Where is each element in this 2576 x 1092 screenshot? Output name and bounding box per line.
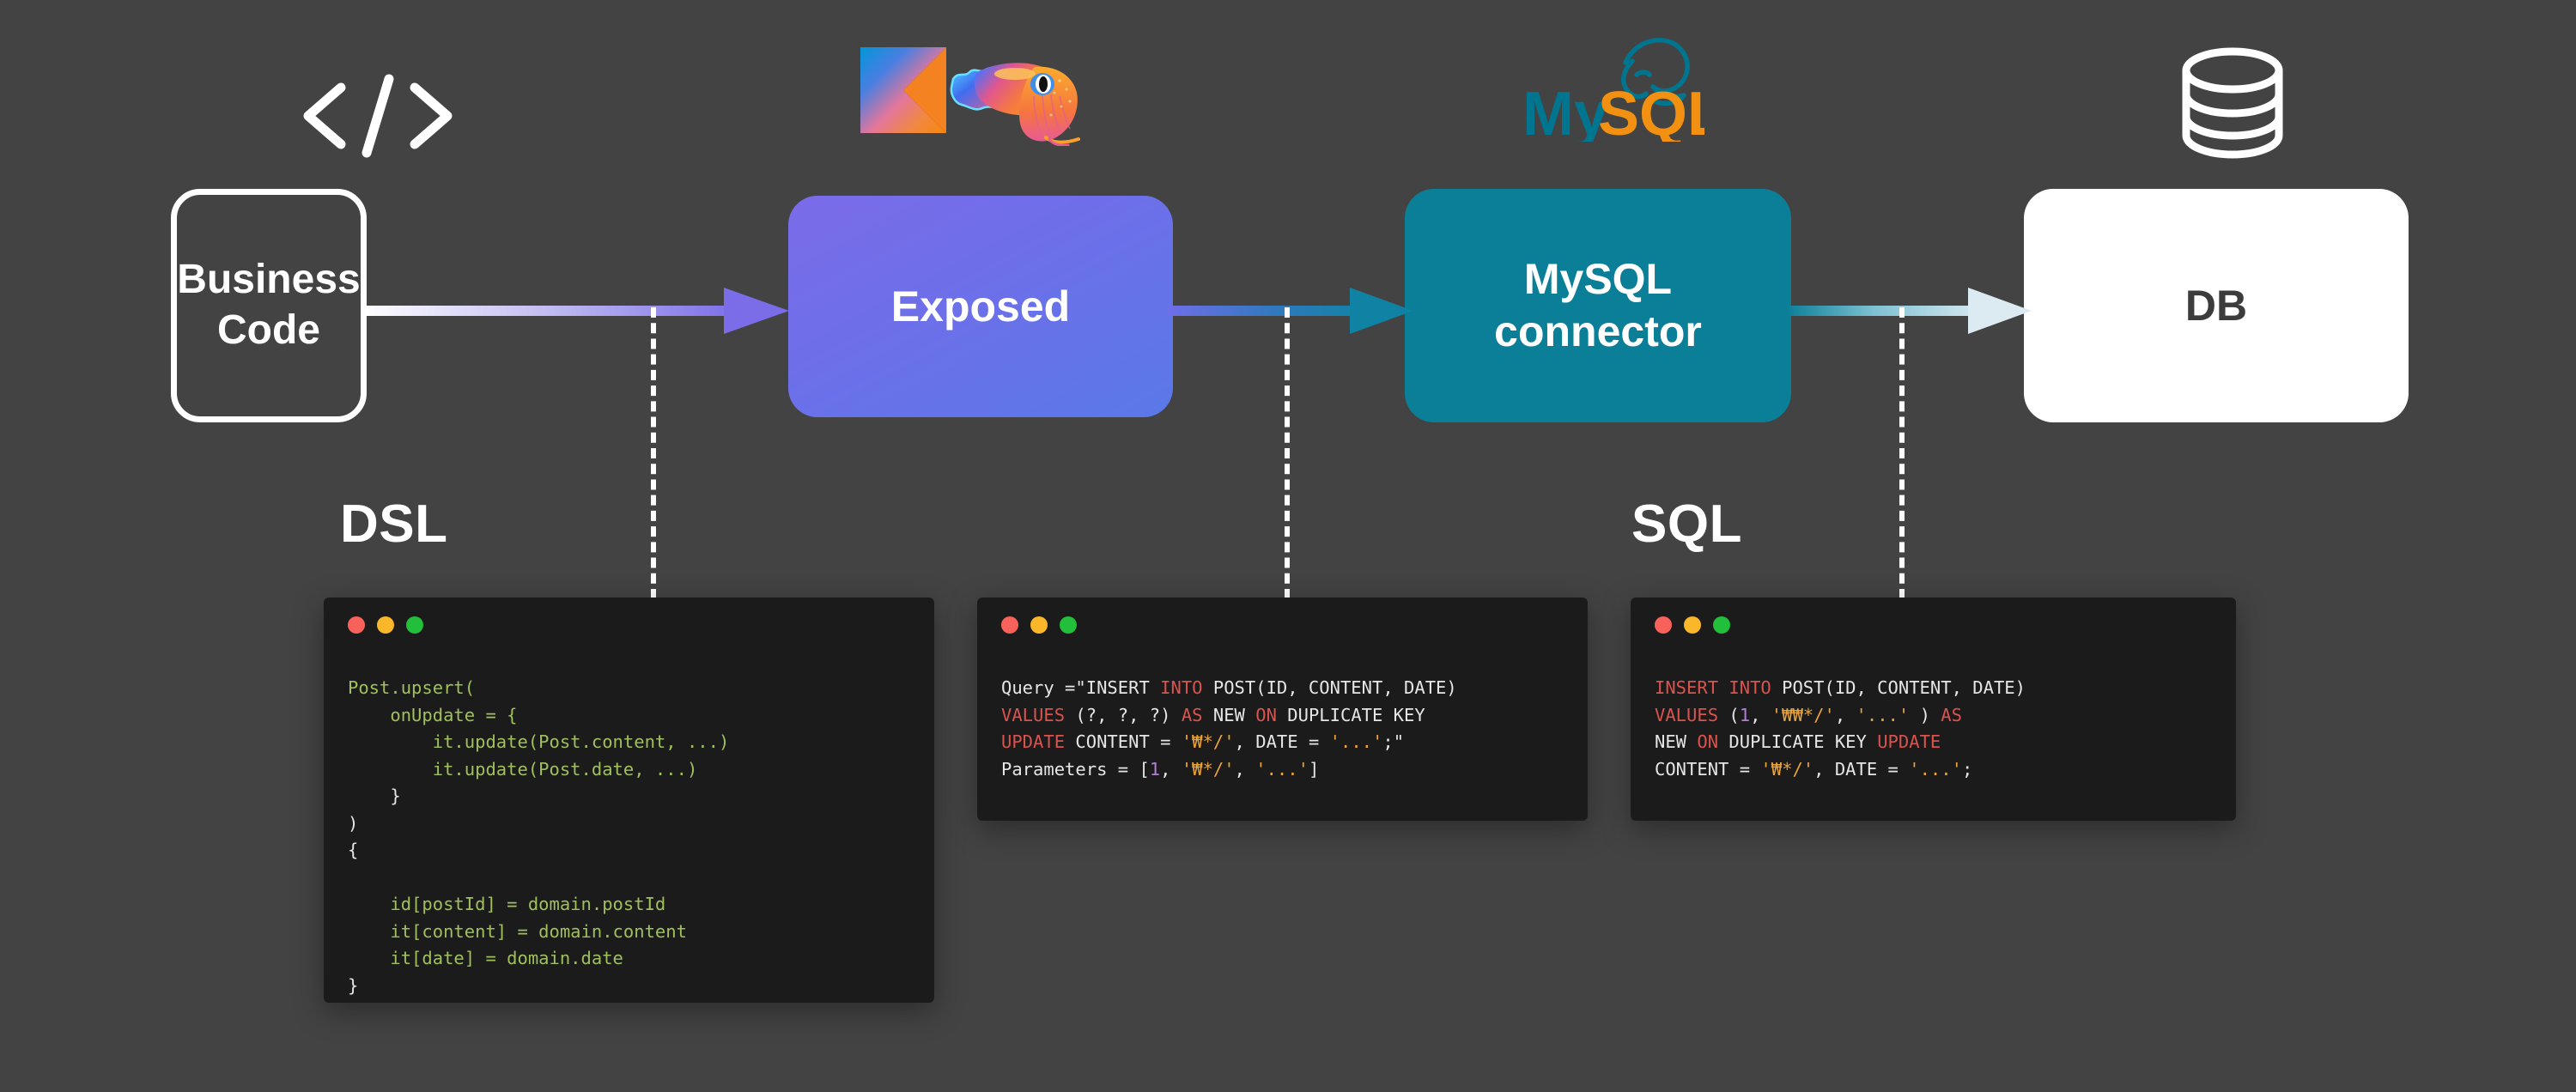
window-dots [1001, 616, 1567, 634]
mysql-dolphin-logo-icon: My SQL ™ [1516, 30, 1704, 142]
pipeline-node-business-code[interactable]: BusinessCode [171, 189, 367, 422]
sql-code-content: INSERT INTO POST(ID, CONTENT, DATE) VALU… [1655, 675, 2215, 783]
maximize-dot-icon[interactable] [1060, 616, 1077, 634]
window-dots [348, 616, 914, 634]
arrow-exposed-to-mysql-connector [1168, 281, 1417, 341]
arrow-business-code-to-exposed [363, 281, 793, 341]
dotted-line-sql [1899, 307, 1905, 599]
node-label-mysql-connector: MySQLconnector [1494, 253, 1702, 358]
maximize-dot-icon[interactable] [1713, 616, 1730, 634]
node-label-exposed: Exposed [891, 281, 1070, 333]
sql-code-card[interactable]: INSERT INTO POST(ID, CONTENT, DATE) VALU… [1631, 598, 2236, 821]
maximize-dot-icon[interactable] [406, 616, 423, 634]
close-dot-icon[interactable] [1655, 616, 1672, 634]
svg-text:™: ™ [1691, 128, 1702, 141]
svg-text:My: My [1522, 80, 1608, 142]
close-dot-icon[interactable] [1001, 616, 1018, 634]
close-dot-icon[interactable] [348, 616, 365, 634]
pipeline-node-exposed[interactable]: Exposed [788, 196, 1173, 417]
database-cylinder-icon [2172, 47, 2293, 159]
minimize-dot-icon[interactable] [1030, 616, 1048, 634]
pipeline-node-mysql-connector[interactable]: MySQLconnector [1405, 189, 1791, 422]
diagram-canvas: My SQL ™ BusinessCode Exposed MySQLconne… [0, 0, 2576, 1092]
query-code-card[interactable]: Query ="INSERT INTO POST(ID, CONTENT, DA… [977, 598, 1588, 821]
node-label-db: DB [2185, 280, 2247, 332]
dsl-code-card[interactable]: Post.upsert( onUpdate = { it.update(Post… [324, 598, 934, 1003]
kotlin-logo-icon [860, 47, 946, 133]
code-brackets-icon [296, 69, 459, 163]
arrow-mysql-connector-to-db [1786, 281, 2035, 341]
dsl-label: DSL [340, 494, 448, 555]
query-code-content: Query ="INSERT INTO POST(ID, CONTENT, DA… [1001, 675, 1567, 783]
svg-text:SQL: SQL [1598, 80, 1704, 142]
minimize-dot-icon[interactable] [377, 616, 394, 634]
window-dots [1655, 616, 2215, 634]
dotted-line-query [1285, 307, 1290, 599]
dsl-code-content: Post.upsert( onUpdate = { it.update(Post… [348, 675, 914, 999]
pipeline-node-db[interactable]: DB [2024, 189, 2409, 422]
sql-label: SQL [1631, 494, 1742, 555]
node-label-business-code: BusinessCode [177, 255, 360, 355]
exposed-cuttlefish-logo-icon [943, 43, 1097, 146]
minimize-dot-icon[interactable] [1684, 616, 1701, 634]
dotted-line-dsl [651, 307, 656, 599]
